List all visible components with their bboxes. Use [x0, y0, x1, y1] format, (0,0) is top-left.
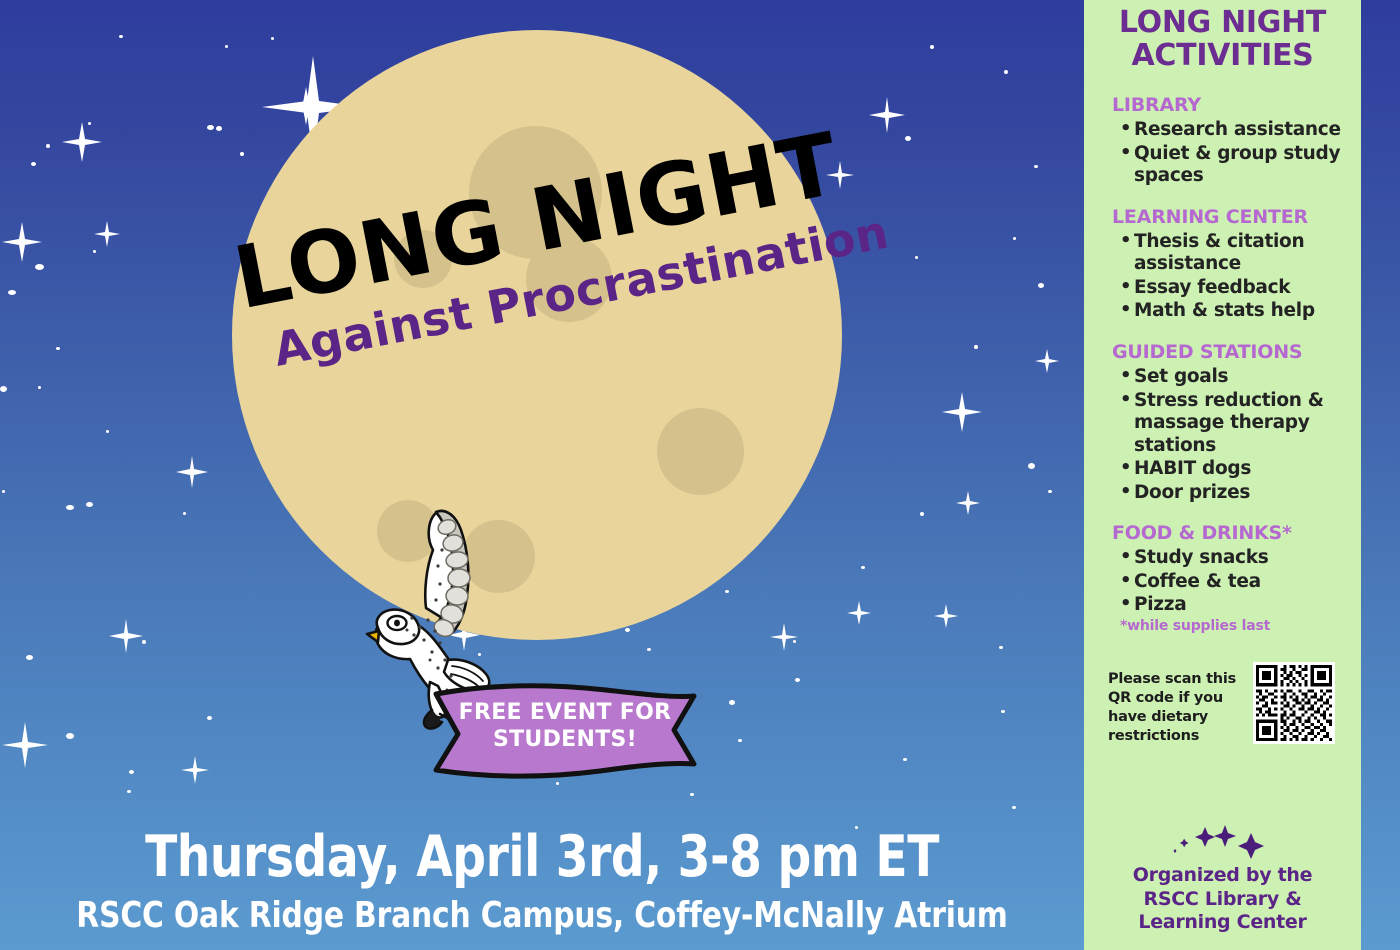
- sidebar-section-guided-stations: GUIDED STATIONS Set goals Stress reducti…: [1098, 341, 1347, 504]
- qr-code[interactable]: [1253, 662, 1335, 744]
- star-sparkle-icon: [955, 490, 981, 516]
- star-sparkle-icon: [175, 455, 209, 489]
- event-details: Thursday, April 3rd, 3-8 pm ET RSCC Oak …: [0, 828, 1084, 935]
- star-sparkle-icon: [0, 720, 50, 770]
- star-sparkle-icon: [93, 220, 121, 248]
- list-item: Set goals: [1134, 366, 1347, 389]
- free-event-banner: [430, 678, 700, 786]
- organizer-line-1: Organized by the: [1084, 864, 1361, 887]
- list-item: Door prizes: [1134, 482, 1347, 505]
- section-heading: FOOD & DRINKS*: [1112, 522, 1347, 544]
- section-list: Study snacks Coffee & tea Pizza: [1098, 547, 1347, 617]
- supplies-note: *while supplies last: [1120, 618, 1347, 634]
- section-heading: GUIDED STATIONS: [1112, 341, 1347, 363]
- activities-sidebar: LONG NIGHT ACTIVITIES LIBRARY Research a…: [1084, 0, 1361, 950]
- section-heading: LIBRARY: [1112, 94, 1347, 116]
- sidebar-title-line-2: ACTIVITIES: [1098, 39, 1347, 72]
- star-sparkle-icon: [846, 600, 872, 626]
- list-item: Quiet & group study spaces: [1134, 143, 1347, 188]
- sparkle-cluster-icon: [1153, 823, 1293, 859]
- list-item: Stress reduction & massage therapy stati…: [1134, 390, 1347, 458]
- organizer-line-2: RSCC Library &: [1084, 888, 1361, 911]
- sidebar-title-line-1: LONG NIGHT: [1098, 6, 1347, 39]
- star-sparkle-icon: [933, 603, 959, 629]
- list-item: Study snacks: [1134, 547, 1347, 570]
- qr-instruction-text: Please scan this QR code if you have die…: [1108, 662, 1253, 745]
- star-sparkle-icon: [769, 622, 799, 652]
- section-list: Thesis & citation assistance Essay feedb…: [1098, 231, 1347, 323]
- sidebar-title: LONG NIGHT ACTIVITIES: [1098, 0, 1347, 72]
- list-item: Math & stats help: [1134, 300, 1347, 323]
- list-item: HABIT dogs: [1134, 458, 1347, 481]
- section-list: Set goals Stress reduction & massage the…: [1098, 366, 1347, 504]
- qr-code-row: Please scan this QR code if you have die…: [1108, 662, 1347, 745]
- section-list: Research assistance Quiet & group study …: [1098, 119, 1347, 188]
- organizer-line-3: Learning Center: [1084, 911, 1361, 934]
- list-item: Coffee & tea: [1134, 571, 1347, 594]
- star-sparkle-icon: [0, 220, 44, 264]
- star-sparkle-icon: [868, 96, 906, 134]
- star-sparkle-icon: [180, 755, 210, 785]
- sidebar-section-food-drinks: FOOD & DRINKS* Study snacks Coffee & tea…: [1098, 522, 1347, 634]
- list-item: Thesis & citation assistance: [1134, 231, 1347, 276]
- list-item: Research assistance: [1134, 119, 1347, 142]
- moon-crater: [657, 408, 744, 495]
- event-location: RSCC Oak Ridge Branch Campus, Coffey-McN…: [43, 896, 1040, 936]
- star-sparkle-icon: [940, 390, 984, 434]
- event-date: Thursday, April 3rd, 3-8 pm ET: [43, 828, 1040, 888]
- star-sparkle-icon: [1034, 348, 1060, 374]
- poster-canvas: LONG NIGHT Against Procrastination: [0, 0, 1400, 950]
- list-item: Essay feedback: [1134, 277, 1347, 300]
- list-item: Pizza: [1134, 594, 1347, 617]
- sidebar-section-library: LIBRARY Research assistance Quiet & grou…: [1098, 94, 1347, 188]
- organizer-block: Organized by the RSCC Library & Learning…: [1084, 823, 1361, 934]
- right-sky-strip: [1361, 0, 1400, 950]
- sidebar-section-learning-center: LEARNING CENTER Thesis & citation assist…: [1098, 206, 1347, 323]
- star-sparkle-icon: [108, 618, 144, 654]
- qr-code-image[interactable]: [1256, 665, 1332, 741]
- star-sparkle-icon: [60, 120, 104, 164]
- section-heading: LEARNING CENTER: [1112, 206, 1347, 228]
